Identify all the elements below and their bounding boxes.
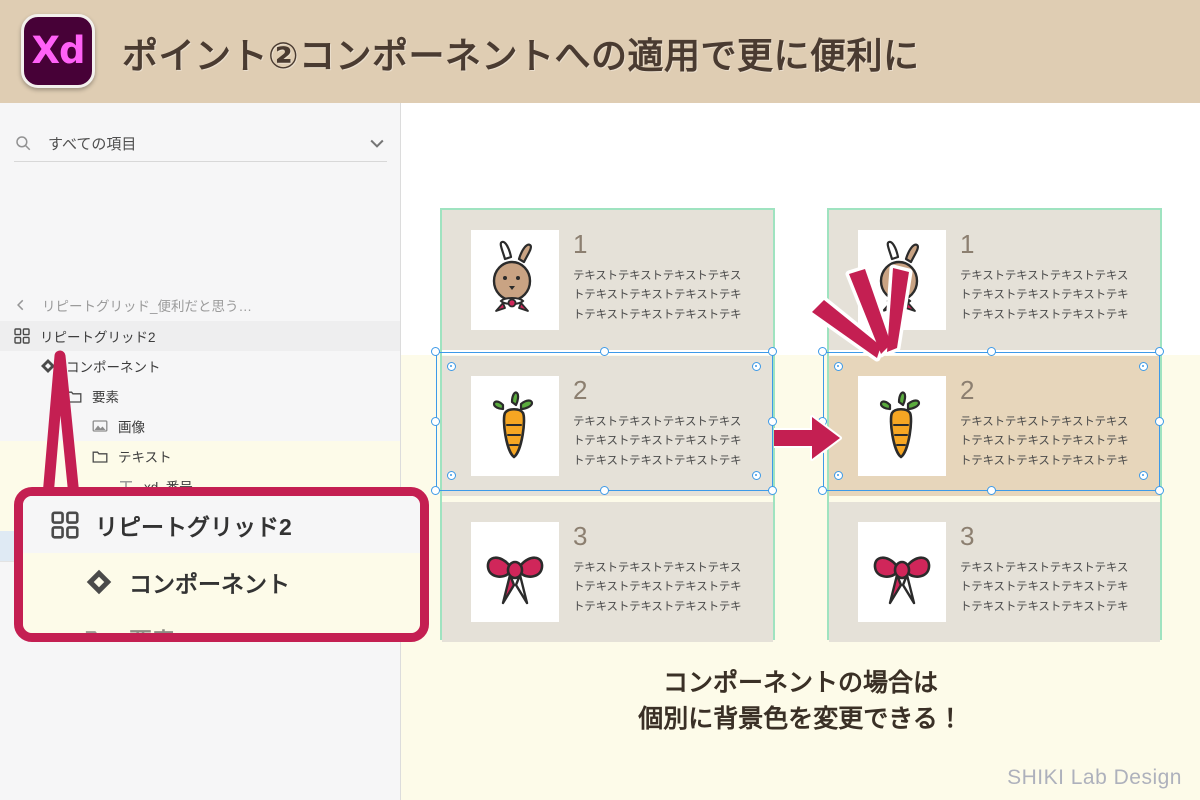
component-diamond-icon <box>85 568 113 596</box>
card-number: 2 <box>960 377 974 403</box>
selection-handle[interactable] <box>431 417 440 426</box>
page-title: ポイント②コンポーネントへの適用で更に便利に <box>122 27 919 79</box>
selection-handle[interactable] <box>987 347 996 356</box>
card-text-line: テキストテキストテキストテキス <box>573 413 763 432</box>
card-thumbnail <box>471 522 559 622</box>
right-arrow-icon <box>774 415 842 461</box>
card-text: テキストテキストテキストテキス トテキストテキストテキストテキ トテキストテキス… <box>573 267 763 325</box>
callout-row-component: コンポーネント <box>23 553 420 610</box>
callout-row-repeat-grid: リピートグリッド2 <box>23 496 420 553</box>
selection-handle[interactable] <box>1155 347 1164 356</box>
folder-icon <box>85 625 113 643</box>
carrot-icon <box>479 383 551 469</box>
layer-label: リピートグリッド2 <box>40 326 156 346</box>
card-item[interactable]: 3 テキストテキストテキストテキス トテキストテキストテキストテキ トテキストテ… <box>829 502 1160 642</box>
search-icon <box>14 134 32 152</box>
rabbit-icon <box>479 237 551 323</box>
card-text-line: テキストテキストテキストテキス <box>573 267 763 286</box>
selection-handle[interactable] <box>1155 486 1164 495</box>
card-text-line: トテキストテキストテキストテキ <box>960 432 1150 451</box>
carrot-icon <box>866 383 938 469</box>
caption-line-1: コンポーネントの場合は <box>401 665 1200 701</box>
card-text-line: トテキストテキストテキストテキ <box>573 432 763 451</box>
corner-radius-handle[interactable] <box>447 471 456 480</box>
card-thumbnail <box>858 522 946 622</box>
repeat-grid-group-before[interactable]: 1 テキストテキストテキストテキス トテキストテキストテキストテキ トテキストテ… <box>440 208 775 640</box>
card-text-line: テキストテキストテキストテキス <box>573 559 763 578</box>
card-item-highlighted[interactable]: 2 テキストテキストテキストテキス トテキストテキストテキストテキ トテキストテ… <box>829 356 1160 496</box>
callout-label: リピートグリッド2 <box>95 508 292 542</box>
callout-label: コンポーネント <box>129 565 290 599</box>
selection-handle[interactable] <box>768 347 777 356</box>
selection-handle[interactable] <box>431 347 440 356</box>
search-input[interactable]: すべての項目 <box>48 133 367 154</box>
page-header: Xd ポイント②コンポーネントへの適用で更に便利に <box>0 0 1200 103</box>
caption-line-2: 個別に背景色を変更できる！ <box>401 701 1200 737</box>
card-text-line: テキストテキストテキストテキス <box>960 267 1150 286</box>
breadcrumb[interactable]: リピートグリッド_便利だと思う… <box>0 290 401 320</box>
corner-radius-handle[interactable] <box>1139 471 1148 480</box>
card-text-line: テキストテキストテキストテキス <box>960 413 1150 432</box>
card-text: テキストテキストテキストテキス トテキストテキストテキストテキ トテキストテキス… <box>960 559 1150 617</box>
layer-row-repeat-grid[interactable]: リピートグリッド2 <box>0 321 401 351</box>
card-text-line: トテキストテキストテキストテキ <box>573 286 763 305</box>
selection-handle[interactable] <box>768 486 777 495</box>
caption-block: コンポーネントの場合は 個別に背景色を変更できる！ <box>401 665 1200 738</box>
sparkle-burst-icon <box>805 262 920 377</box>
selection-handle[interactable] <box>431 486 440 495</box>
repeat-grid-icon <box>51 511 79 539</box>
xd-logo-text: Xd <box>31 32 84 69</box>
card-text-line: トテキストテキストテキストテキ <box>960 286 1150 305</box>
ribbon-icon <box>479 529 551 615</box>
card-thumbnail <box>471 376 559 476</box>
card-item[interactable]: 3 テキストテキストテキストテキス トテキストテキストテキストテキ トテキストテ… <box>442 502 773 642</box>
card-number: 3 <box>960 523 974 549</box>
card-text-line: トテキストテキストテキストテキ <box>960 306 1150 325</box>
callout-label: 要素 <box>129 622 175 643</box>
card-text-line: トテキストテキストテキストテキ <box>573 578 763 597</box>
callout-pointer <box>8 348 128 498</box>
card-number: 2 <box>573 377 587 403</box>
breadcrumb-label: リピートグリッド_便利だと思う… <box>42 295 252 315</box>
card-number: 1 <box>960 231 974 257</box>
corner-radius-handle[interactable] <box>752 362 761 371</box>
card-text: テキストテキストテキストテキス トテキストテキストテキストテキ トテキストテキス… <box>573 559 763 617</box>
layers-search-bar[interactable]: すべての項目 <box>0 123 401 163</box>
zoom-callout-bubble: リピートグリッド2 コンポーネント 要素 <box>14 487 429 642</box>
card-text-line: トテキストテキストテキストテキ <box>573 598 763 617</box>
card-thumbnail <box>471 230 559 330</box>
card-text: テキストテキストテキストテキス トテキストテキストテキストテキ トテキストテキス… <box>573 413 763 471</box>
card-text: テキストテキストテキストテキス トテキストテキストテキストテキ トテキストテキス… <box>960 267 1150 325</box>
selection-handle[interactable] <box>818 486 827 495</box>
callout-row-youso: 要素 <box>23 610 420 642</box>
card-text-line: トテキストテキストテキストテキ <box>573 452 763 471</box>
card-text-line: テキストテキストテキストテキス <box>960 559 1150 578</box>
chevron-left-icon[interactable] <box>14 298 28 312</box>
selection-handle[interactable] <box>600 486 609 495</box>
selection-handle[interactable] <box>987 486 996 495</box>
corner-radius-handle[interactable] <box>834 471 843 480</box>
card-text-line: トテキストテキストテキストテキ <box>573 306 763 325</box>
selection-handle[interactable] <box>600 347 609 356</box>
card-thumbnail <box>858 376 946 476</box>
corner-radius-handle[interactable] <box>752 471 761 480</box>
card-text-line: トテキストテキストテキストテキ <box>960 452 1150 471</box>
card-item[interactable]: 1 テキストテキストテキストテキス トテキストテキストテキストテキ トテキストテ… <box>442 210 773 350</box>
card-number: 1 <box>573 231 587 257</box>
corner-radius-handle[interactable] <box>1139 362 1148 371</box>
screenshot-root: Xd ポイント②コンポーネントへの適用で更に便利に すべての項目 リピートグリッ… <box>0 0 1200 800</box>
selection-handle[interactable] <box>1155 417 1164 426</box>
ribbon-icon <box>866 529 938 615</box>
adobe-xd-logo-icon: Xd <box>21 14 95 88</box>
corner-radius-handle[interactable] <box>447 362 456 371</box>
search-underline <box>14 161 387 162</box>
repeat-grid-icon <box>14 328 30 344</box>
card-text: テキストテキストテキストテキス トテキストテキストテキストテキ トテキストテキス… <box>960 413 1150 471</box>
card-number: 3 <box>573 523 587 549</box>
watermark: SHIKI Lab Design <box>1007 766 1182 790</box>
card-item[interactable]: 2 テキストテキストテキストテキス トテキストテキストテキストテキ トテキストテ… <box>442 356 773 496</box>
chevron-down-icon[interactable] <box>367 133 387 153</box>
card-text-line: トテキストテキストテキストテキ <box>960 578 1150 597</box>
card-text-line: トテキストテキストテキストテキ <box>960 598 1150 617</box>
